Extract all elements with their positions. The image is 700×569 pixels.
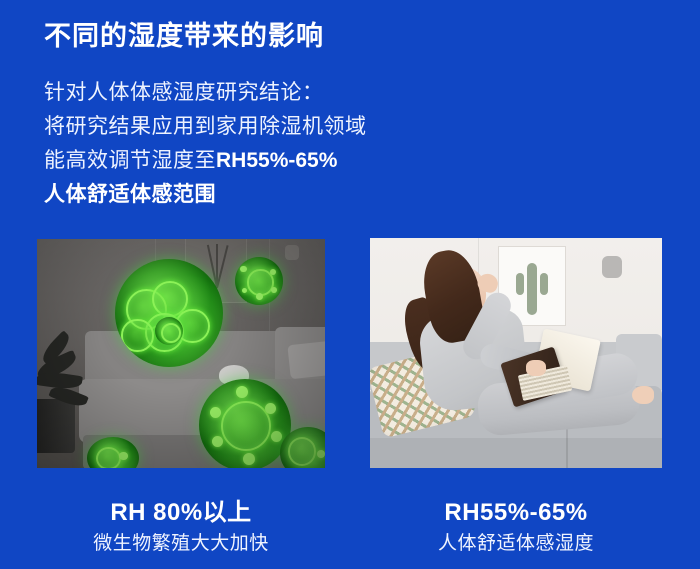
- body-line-4: 人体舒适体感范围: [44, 178, 367, 212]
- twig-decor-icon: [216, 244, 218, 288]
- cactus-icon: [527, 263, 537, 315]
- caption-high-humidity: RH 80%以上 微生物繁殖大大加快: [37, 498, 325, 558]
- sofa-backrest: [85, 331, 325, 387]
- wall-seam: [269, 239, 270, 468]
- woman-foot: [632, 386, 654, 404]
- plant-leaf: [37, 370, 83, 391]
- caption-sub-text: 人体舒适体感湿度: [370, 530, 662, 558]
- microbe-cluster: [199, 379, 291, 468]
- microbe-cluster: [87, 437, 139, 468]
- plant-leaf: [37, 350, 79, 382]
- sofa-armrest: [275, 327, 325, 389]
- plant-pot: [37, 399, 75, 453]
- sofa-pillow: [219, 365, 249, 385]
- caption-main-text: RH55%-65%: [370, 498, 662, 528]
- body-line-3-prefix: 能高效调节湿度至: [44, 149, 216, 172]
- twig-decor-icon: [216, 245, 228, 288]
- photo-comfort-humidity: [370, 238, 662, 468]
- photo-high-humidity: [37, 239, 325, 468]
- body-line-1: 针对人体体感湿度研究结论：: [44, 76, 367, 110]
- wall-speaker-icon: [285, 245, 299, 260]
- plant-leaf: [48, 383, 88, 410]
- microbe-cluster: [235, 257, 283, 305]
- page-title: 不同的湿度带来的影响: [44, 18, 324, 54]
- body-line-3: 能高效调节湿度至RH55%-65%: [44, 144, 367, 178]
- caption-comfort-humidity: RH55%-65% 人体舒适体感湿度: [370, 498, 662, 558]
- caption-main-text: RH 80%以上: [37, 498, 325, 528]
- dark-living-room-scene: [37, 239, 325, 468]
- plant-leaf: [38, 330, 73, 366]
- microbe-cluster: [155, 317, 183, 345]
- wall-speaker-icon: [602, 256, 622, 278]
- sofa-cushion: [287, 341, 325, 379]
- microbe-cluster: [115, 259, 223, 367]
- sofa-seat: [79, 379, 325, 443]
- sofa-base: [83, 435, 325, 468]
- twig-decor-icon: [207, 245, 218, 288]
- body-copy: 针对人体体感湿度研究结论： 将研究结果应用到家用除湿机领域 能高效调节湿度至RH…: [44, 76, 367, 212]
- woman-hand: [526, 360, 546, 376]
- body-line-2: 将研究结果应用到家用除湿机领域: [44, 110, 367, 144]
- body-line-3-highlight: RH55%-65%: [216, 149, 337, 172]
- wall-art-frame: [185, 239, 247, 303]
- microbe-cluster: [280, 427, 325, 468]
- wall-seam: [155, 239, 156, 468]
- sofa-base: [370, 438, 662, 468]
- humidity-infographic-poster: 不同的湿度带来的影响 针对人体体感湿度研究结论： 将研究结果应用到家用除湿机领域…: [0, 0, 700, 569]
- caption-sub-text: 微生物繁殖大大加快: [37, 530, 325, 558]
- bright-living-room-scene: [370, 238, 662, 468]
